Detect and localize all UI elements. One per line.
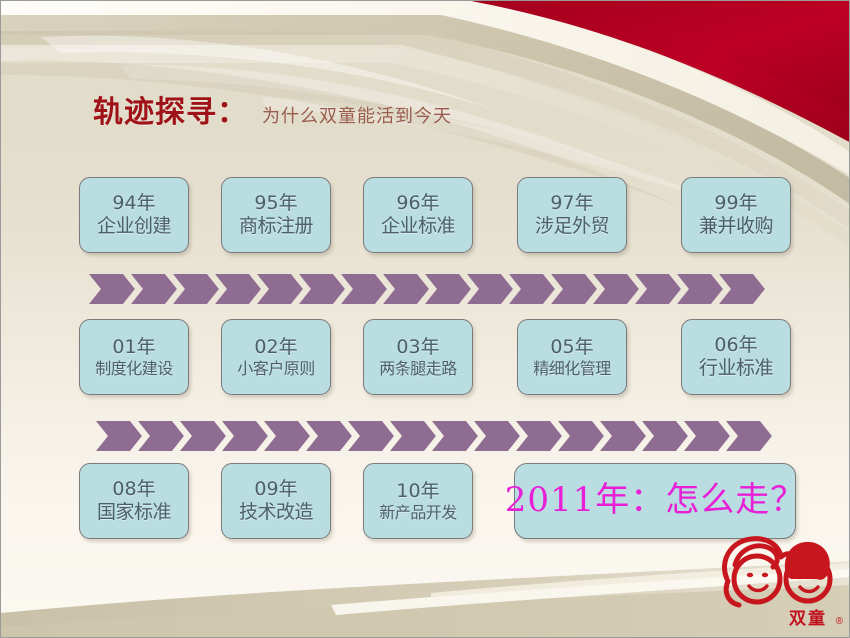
milestone-box-2011-question[interactable]: 2011年：怎么走？ <box>514 463 796 539</box>
milestone-year: 01年 <box>112 336 155 359</box>
chevron-arrow <box>726 421 772 451</box>
chevron-arrow <box>677 274 723 304</box>
milestone-box-01[interactable]: 01年 制度化建设 <box>79 319 189 395</box>
milestone-label: 兼并收购 <box>699 215 773 238</box>
chevron-arrow <box>96 421 142 451</box>
chevron-arrow <box>509 274 555 304</box>
chevron-arrow <box>299 274 345 304</box>
chevron-strip-2 <box>96 419 768 453</box>
chevron-arrow <box>131 274 177 304</box>
chevron-arrow <box>642 421 688 451</box>
milestone-label: 涉足外贸 <box>535 215 609 238</box>
milestone-year: 03年 <box>396 336 439 359</box>
chevron-arrow <box>257 274 303 304</box>
logo-brand-text: 双童 <box>789 604 827 629</box>
milestone-label: 制度化建设 <box>95 359 173 379</box>
chevron-arrow <box>138 421 184 451</box>
milestone-label: 企业标准 <box>381 215 455 238</box>
milestone-year: 10年 <box>396 480 439 503</box>
milestone-label: 新产品开发 <box>379 503 457 523</box>
chevron-arrow <box>516 421 562 451</box>
milestone-box-97[interactable]: 97年 涉足外贸 <box>517 177 627 253</box>
milestone-year: 94年 <box>112 192 155 215</box>
chevron-arrow <box>215 274 261 304</box>
milestone-label: 国家标准 <box>97 501 171 524</box>
chevron-strip-1 <box>89 272 761 306</box>
milestone-year: 99年 <box>714 192 757 215</box>
milestone-box-95[interactable]: 95年 商标注册 <box>221 177 331 253</box>
milestone-box-05[interactable]: 05年 精细化管理 <box>517 319 627 395</box>
chevron-arrow <box>341 274 387 304</box>
milestone-year: 02年 <box>254 336 297 359</box>
chevron-arrow <box>558 421 604 451</box>
page-subtitle: 为什么双童能活到今天 <box>262 102 452 128</box>
milestone-box-94[interactable]: 94年 企业创建 <box>79 177 189 253</box>
milestone-label: 两条腿走路 <box>379 359 457 379</box>
milestone-year: 06年 <box>714 334 757 357</box>
chevron-arrow <box>551 274 597 304</box>
chevron-arrow <box>425 274 471 304</box>
milestone-label: 商标注册 <box>239 215 313 238</box>
chevron-arrow <box>600 421 646 451</box>
milestone-year: 05年 <box>550 336 593 359</box>
milestone-label: 企业创建 <box>97 215 171 238</box>
slide-title: 轨迹探寻： 为什么双童能活到今天 <box>93 87 452 131</box>
chevron-arrow <box>390 421 436 451</box>
milestone-box-10[interactable]: 10年 新产品开发 <box>363 463 473 539</box>
milestone-label: 小客户原则 <box>237 359 315 379</box>
milestone-box-96[interactable]: 96年 企业标准 <box>363 177 473 253</box>
chevron-arrow <box>474 421 520 451</box>
presentation-slide: 轨迹探寻： 为什么双童能活到今天 94年 企业创建 95年 商标注册 96年 企… <box>0 0 850 638</box>
milestone-year: 95年 <box>254 192 297 215</box>
chevron-arrow <box>306 421 352 451</box>
chevron-arrow <box>684 421 730 451</box>
chevron-arrow <box>222 421 268 451</box>
milestone-year: 09年 <box>254 478 297 501</box>
milestone-year: 96年 <box>396 192 439 215</box>
question-text: 2011年：怎么走？ <box>505 480 806 521</box>
milestone-label: 精细化管理 <box>533 359 611 379</box>
registered-mark-icon: ® <box>836 616 843 627</box>
milestone-year: 08年 <box>112 478 155 501</box>
milestone-label: 行业标准 <box>699 357 773 380</box>
chevron-arrow <box>719 274 765 304</box>
chevron-arrow <box>348 421 394 451</box>
chevron-arrow <box>264 421 310 451</box>
chevron-arrow <box>635 274 681 304</box>
milestone-box-02[interactable]: 02年 小客户原则 <box>221 319 331 395</box>
chevron-arrow <box>432 421 478 451</box>
chevron-arrow <box>180 421 226 451</box>
chevron-arrow <box>593 274 639 304</box>
chevron-arrow <box>89 274 135 304</box>
milestone-year: 97年 <box>550 192 593 215</box>
chevron-arrow <box>467 274 513 304</box>
milestone-box-06[interactable]: 06年 行业标准 <box>681 319 791 395</box>
milestone-box-09[interactable]: 09年 技术改造 <box>221 463 331 539</box>
milestone-label: 技术改造 <box>239 501 313 524</box>
milestone-box-03[interactable]: 03年 两条腿走路 <box>363 319 473 395</box>
chevron-arrow <box>173 274 219 304</box>
page-title: 轨迹探寻： <box>93 87 248 131</box>
milestone-box-99[interactable]: 99年 兼并收购 <box>681 177 791 253</box>
chevron-arrow <box>383 274 429 304</box>
milestone-box-08[interactable]: 08年 国家标准 <box>79 463 189 539</box>
